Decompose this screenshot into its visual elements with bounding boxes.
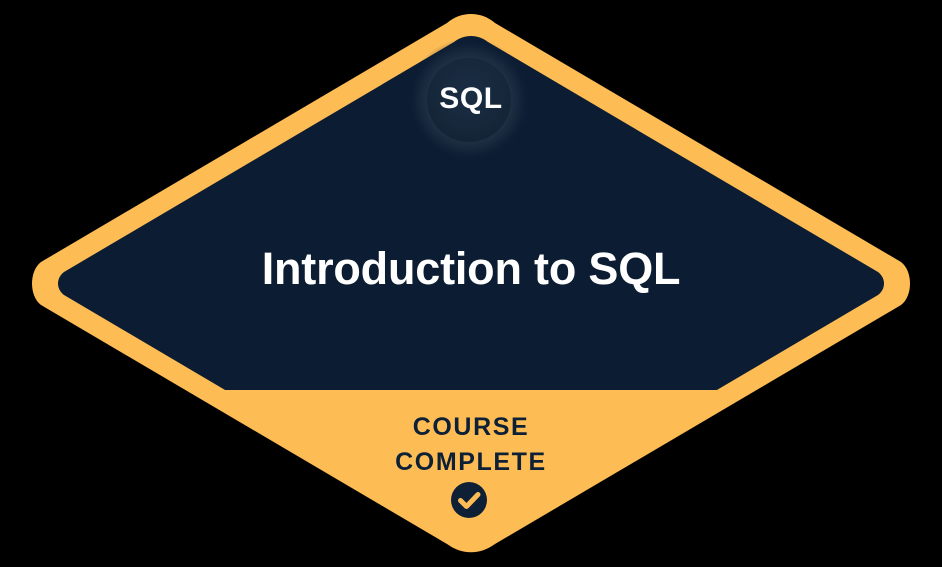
badge-graphic bbox=[0, 0, 942, 567]
sql-chip-core bbox=[427, 58, 511, 142]
check-circle-bg bbox=[451, 482, 487, 518]
sql-chip-icon bbox=[407, 38, 531, 162]
check-circle-icon bbox=[451, 482, 487, 518]
course-completion-badge: SQL Introduction to SQL COURSE COMPLETE bbox=[0, 0, 942, 567]
